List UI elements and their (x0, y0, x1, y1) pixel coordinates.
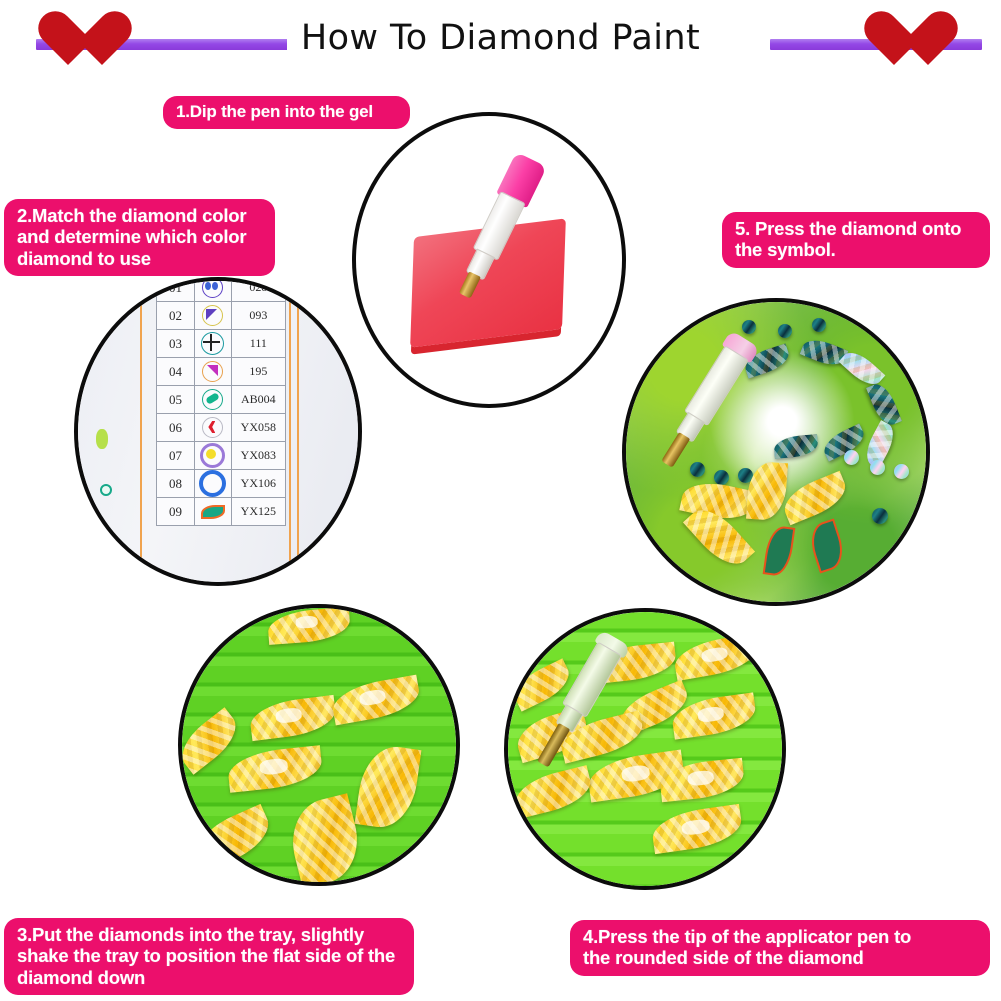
chart-cell-code: 028 (231, 281, 285, 302)
canvas-gem-round (714, 470, 729, 485)
chart-cell-code: 195 (231, 358, 285, 386)
pen-tip (459, 271, 481, 298)
canvas-gem-round (778, 324, 792, 338)
canvas-mark-green (96, 429, 108, 449)
chart-cell-no: 02 (157, 302, 195, 330)
step-4-line-2: the rounded side of the diamond (583, 947, 977, 968)
table-row: 07 YX083 (157, 442, 286, 470)
photo-step-5-press-diamond (622, 298, 930, 606)
page-title-text: How To Diamond Paint (287, 18, 714, 58)
table-row: 08 YX106 (157, 470, 286, 498)
red-left-chevron-circle-icon (202, 417, 223, 438)
chart-cell-code: YX083 (231, 442, 285, 470)
step-4-label: 4.Press the tip of the applicator pen to… (570, 920, 990, 976)
plus-cross-circle-icon (201, 332, 224, 355)
chart-cell-symbol (194, 414, 231, 442)
chart-cell-no: 08 (157, 470, 195, 498)
chart-cell-no: 04 (157, 358, 195, 386)
step-3-line-2: shake the tray to position the flat side… (17, 945, 401, 966)
table-row: 06 YX058 (157, 414, 286, 442)
chart-cell-symbol (194, 302, 231, 330)
chart-cell-symbol (194, 498, 231, 526)
teal-capsule-circle-icon (202, 389, 223, 410)
chart-cell-code: 093 (231, 302, 285, 330)
chart-cell-code: YX125 (231, 498, 285, 526)
purple-triangle-circle-icon (202, 305, 223, 326)
step-5-line-2: the symbol. (735, 239, 977, 260)
pen-tip (661, 432, 690, 468)
step-2-line-2: and determine which color (17, 226, 262, 247)
photo-step-4-pick-diamond (504, 608, 786, 890)
chart-cell-no: 07 (157, 442, 195, 470)
yellow-dot-purple-circle-icon (200, 443, 225, 468)
canvas-gem-round (872, 508, 888, 524)
guide-line-left (140, 281, 142, 582)
step-3-label: 3.Put the diamonds into the tray, slight… (4, 918, 414, 995)
chart-cell-code: YX058 (231, 414, 285, 442)
step-1-label: 1.Dip the pen into the gel (163, 96, 410, 129)
step-5-label: 5. Press the diamond onto the symbol. (722, 212, 990, 268)
chart-cell-no: 03 (157, 330, 195, 358)
page-title: How To Diamond Paint (0, 18, 1001, 58)
chart-cell-code: AB004 (231, 386, 285, 414)
chart-cell-no: 09 (157, 498, 195, 526)
blue-ring-circle-icon (199, 470, 226, 497)
canvas-gem-round (812, 318, 826, 332)
chart-cell-no: 06 (157, 414, 195, 442)
table-row: 02 093 (157, 302, 286, 330)
canvas-gem-round (870, 460, 885, 475)
photo-step-2-color-chart: 01 028 02 0 (74, 277, 362, 586)
chart-cell-code: YX106 (231, 470, 285, 498)
step-3-line-3: diamond down (17, 967, 401, 988)
step-3-line-1: 3.Put the diamonds into the tray, slight… (17, 924, 401, 945)
canvas-gem-round (742, 320, 756, 334)
chart-cell-symbol (194, 330, 231, 358)
guide-line-right-1 (289, 281, 291, 582)
table-row: 01 028 (157, 281, 286, 302)
color-chart-table: 01 028 02 0 (156, 281, 286, 526)
canvas-gem-round (844, 450, 859, 465)
step-2-line-3: diamond to use (17, 248, 262, 269)
step-2-label: 2.Match the diamond color and determine … (4, 199, 275, 276)
table-row: 04 195 (157, 358, 286, 386)
photo-step-3-diamond-tray (178, 604, 460, 886)
canvas-gem-round (690, 462, 705, 477)
chart-cell-symbol (194, 442, 231, 470)
canvas-gem-round (894, 464, 909, 479)
chart-cell-symbol (194, 281, 231, 302)
chart-cell-code: 111 (231, 330, 285, 358)
table-row: 09 YX125 (157, 498, 286, 526)
step-2-line-1: 2.Match the diamond color (17, 205, 262, 226)
magenta-triangle-circle-icon (202, 361, 223, 382)
step-4-line-1: 4.Press the tip of the applicator pen to (583, 926, 977, 947)
table-row: 03 111 (157, 330, 286, 358)
blue-double-dot-circle-icon (202, 281, 223, 298)
guide-line-right-2 (297, 281, 299, 582)
photo-step-1-dip-pen (352, 112, 626, 408)
teal-leaf-orange-outline-icon (200, 504, 226, 520)
chart-cell-symbol (194, 358, 231, 386)
canvas-mark-teal (100, 484, 112, 496)
chart-cell-symbol (194, 386, 231, 414)
chart-cell-symbol (194, 470, 231, 498)
page-header: How To Diamond Paint (0, 0, 1001, 86)
chart-cell-no: 05 (157, 386, 195, 414)
step-1-line-1: 1.Dip the pen into the gel (176, 102, 397, 122)
table-row: 05 AB004 (157, 386, 286, 414)
step-5-line-1: 5. Press the diamond onto (735, 218, 977, 239)
chart-cell-no: 01 (157, 281, 195, 302)
